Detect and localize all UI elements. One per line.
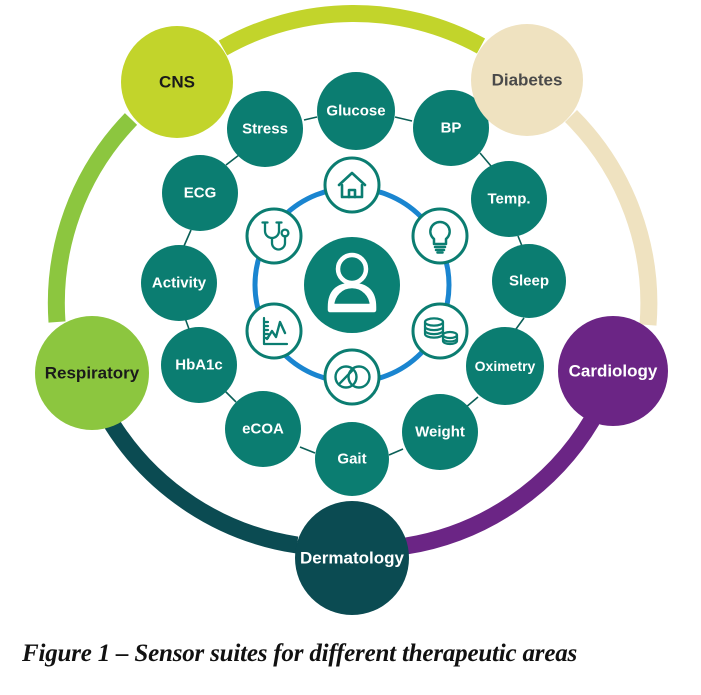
icon-circle (325, 158, 379, 212)
sensor-node-weight[interactable]: Weight (402, 394, 478, 470)
sensor-node-hba1c[interactable]: HbA1c (161, 327, 237, 403)
sensor-suite-diagram: Glucose BP Temp. Sleep Oximetry Weight (0, 0, 701, 625)
sensor-node-label: Sleep (509, 273, 549, 290)
icon-circle (325, 350, 379, 404)
figure-caption: Figure 1 – Sensor suites for different t… (22, 640, 682, 668)
therapeutic-area-label: CNS (159, 73, 195, 92)
therapeutic-area-cns[interactable]: CNS (121, 26, 233, 138)
sensor-node-label: Glucose (326, 103, 385, 120)
icon-circle (413, 209, 467, 263)
inner-icon-medication[interactable] (325, 350, 379, 404)
sensor-node-label: BP (441, 120, 462, 137)
sensor-node-label: eCOA (242, 421, 284, 438)
center-patient-node[interactable] (304, 237, 400, 333)
sensor-node-gait[interactable]: Gait (315, 422, 389, 496)
figure-container: Glucose BP Temp. Sleep Oximetry Weight (0, 0, 701, 695)
therapeutic-area-cardiology[interactable]: Cardiology (558, 316, 668, 426)
connector-stress-glucose (304, 117, 317, 120)
inner-icon-clinical[interactable] (247, 209, 301, 263)
connector-temp-sleep (518, 236, 522, 246)
icon-circle (247, 209, 301, 263)
sensor-node-label: HbA1c (175, 357, 223, 374)
therapeutic-area-diabetes[interactable]: Diabetes (471, 24, 583, 136)
connector-bp-temp (480, 153, 491, 166)
sensor-node-label: Temp. (487, 191, 530, 208)
sensor-node-oximetry[interactable]: Oximetry (466, 327, 544, 405)
sensor-node-activity[interactable]: Activity (141, 245, 217, 321)
therapeutic-area-label: Diabetes (492, 71, 563, 90)
connector-weight-gait (389, 449, 403, 455)
sensor-node-stress[interactable]: Stress (227, 91, 303, 167)
sensor-node-label: Weight (415, 424, 465, 441)
connector-sleep-oximetry (516, 318, 524, 329)
icon-circle (413, 304, 467, 358)
therapeutic-area-respiratory[interactable]: Respiratory (35, 316, 149, 430)
sensor-node-label: ECG (184, 185, 217, 202)
arc-respiratory-cns (56, 119, 131, 322)
therapeutic-area-label: Respiratory (45, 364, 140, 383)
arc-diabetes-cardiology (571, 116, 649, 325)
icon-circle (247, 304, 301, 358)
therapeutic-area-dermatology[interactable]: Dermatology (295, 501, 409, 615)
connector-gait-ecoa (300, 447, 315, 453)
sensor-node-ecg[interactable]: ECG (162, 155, 238, 231)
inner-icon-analytics[interactable] (247, 304, 301, 358)
arc-cns-diabetes (223, 13, 481, 48)
inner-icon-data[interactable] (413, 304, 467, 358)
therapeutic-area-label: Cardiology (569, 362, 658, 381)
sensor-node-label: Oximetry (475, 358, 536, 374)
connector-activity-ecg (184, 230, 191, 246)
sensor-node-ecoa[interactable]: eCOA (225, 391, 301, 467)
sensor-node-label: Stress (242, 121, 288, 138)
sensor-node-label: Gait (337, 451, 366, 468)
connector-ecg-stress (226, 155, 239, 165)
inner-icon-home[interactable] (325, 158, 379, 212)
inner-icon-lightbulb[interactable] (413, 209, 467, 263)
sensor-node-sleep[interactable]: Sleep (492, 244, 566, 318)
sensor-node-label: Activity (152, 275, 207, 292)
therapeutic-area-label: Dermatology (300, 549, 404, 568)
sensor-node-glucose[interactable]: Glucose (317, 72, 395, 150)
connector-ecoa-hba1c (225, 391, 236, 402)
sensor-node-temp[interactable]: Temp. (471, 161, 547, 237)
connector-glucose-bp (395, 117, 412, 121)
